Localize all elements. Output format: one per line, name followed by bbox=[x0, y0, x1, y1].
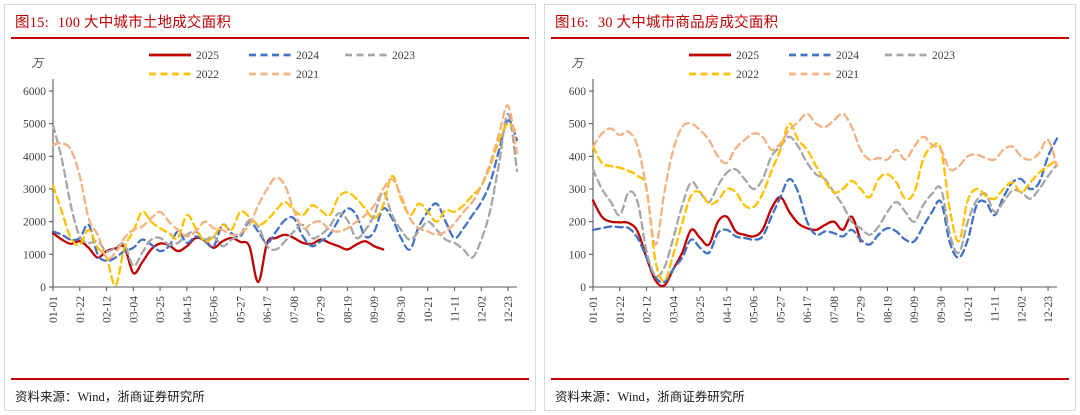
y-tick-label: 1000 bbox=[23, 249, 46, 261]
y-tick-label: 100 bbox=[569, 249, 587, 261]
legend-label-2023: 2023 bbox=[932, 50, 955, 62]
legend-label-2025: 2025 bbox=[196, 50, 219, 62]
x-tick-label: 04-15 bbox=[722, 296, 734, 323]
x-tick-label: 08-19 bbox=[343, 296, 355, 323]
y-tick-label: 3000 bbox=[23, 184, 46, 196]
x-tick-label: 07-08 bbox=[289, 296, 301, 323]
y-tick-label: 6000 bbox=[23, 86, 46, 98]
y-axis-unit: 万 bbox=[32, 58, 45, 70]
figure-title-16: 30 大中城市商品房成交面积 bbox=[598, 15, 778, 31]
x-tick-label: 09-09 bbox=[909, 296, 921, 323]
chart-area-16: 万010020030040050060001-0101-2202-1203-04… bbox=[545, 39, 1075, 378]
legend-label-2021: 2021 bbox=[296, 69, 319, 81]
legend-label-2021: 2021 bbox=[836, 69, 859, 81]
x-tick-label: 05-06 bbox=[749, 296, 761, 323]
legend-label-2023: 2023 bbox=[392, 50, 415, 62]
y-tick-label: 5000 bbox=[23, 119, 46, 131]
line-chart-16: 万010020030040050060001-0101-2202-1203-04… bbox=[545, 39, 1069, 349]
y-tick-label: 400 bbox=[569, 151, 587, 163]
x-tick-label: 10-21 bbox=[963, 296, 975, 323]
x-tick-label: 07-29 bbox=[316, 296, 328, 323]
x-tick-label: 07-29 bbox=[856, 296, 868, 323]
x-tick-label: 11-11 bbox=[990, 296, 1002, 322]
legend-label-2025: 2025 bbox=[736, 50, 759, 62]
panel-title-15: 图15:100 大中城市土地成交面积 bbox=[5, 5, 535, 37]
x-tick-label: 10-21 bbox=[423, 296, 435, 323]
x-tick-label: 01-22 bbox=[75, 296, 87, 323]
x-tick-label: 09-30 bbox=[396, 296, 408, 323]
x-tick-label: 09-30 bbox=[936, 296, 948, 323]
figure-panel-15: 图15:100 大中城市土地成交面积 万01000200030004000500… bbox=[4, 4, 536, 411]
x-tick-label: 02-12 bbox=[102, 296, 114, 323]
x-tick-label: 12-23 bbox=[503, 296, 515, 323]
figure-tag-15: 图15: bbox=[15, 15, 49, 31]
x-tick-label: 03-25 bbox=[695, 296, 707, 323]
x-tick-label: 03-25 bbox=[155, 296, 167, 323]
y-tick-label: 200 bbox=[569, 217, 587, 229]
legend-label-2024: 2024 bbox=[836, 50, 859, 62]
legend-label-2022: 2022 bbox=[196, 69, 219, 81]
series-line-2023 bbox=[53, 114, 517, 266]
x-tick-label: 06-17 bbox=[802, 296, 814, 323]
x-tick-label: 05-06 bbox=[209, 296, 221, 323]
legend-label-2024: 2024 bbox=[296, 50, 319, 62]
series-line-2023 bbox=[593, 137, 1057, 277]
x-tick-label: 05-27 bbox=[235, 296, 247, 323]
source-note-15: 资料来源：Wind，浙商证券研究所 bbox=[5, 380, 535, 410]
chart-area-15: 万010002000300040005000600001-0101-2202-1… bbox=[5, 39, 535, 378]
y-tick-label: 0 bbox=[40, 282, 46, 294]
line-chart-15: 万010002000300040005000600001-0101-2202-1… bbox=[5, 39, 529, 349]
y-axis-unit: 万 bbox=[572, 58, 585, 70]
y-tick-label: 300 bbox=[569, 184, 587, 196]
figure-title-15: 100 大中城市土地成交面积 bbox=[58, 15, 231, 31]
x-tick-label: 01-01 bbox=[588, 296, 600, 323]
figure-panel-16: 图16:30 大中城市商品房成交面积 万01002003004005006000… bbox=[544, 4, 1076, 411]
x-tick-label: 02-12 bbox=[642, 296, 654, 323]
x-tick-label: 03-04 bbox=[668, 296, 680, 323]
x-tick-label: 05-27 bbox=[775, 296, 787, 323]
x-tick-label: 09-09 bbox=[369, 296, 381, 323]
x-tick-label: 07-08 bbox=[829, 296, 841, 323]
x-tick-label: 01-22 bbox=[615, 296, 627, 323]
figures-page: 图15:100 大中城市土地成交面积 万01000200030004000500… bbox=[0, 0, 1080, 415]
y-tick-label: 4000 bbox=[23, 151, 46, 163]
y-tick-label: 2000 bbox=[23, 217, 46, 229]
figure-tag-16: 图16: bbox=[555, 15, 589, 31]
series-line-2025 bbox=[593, 197, 861, 286]
source-note-16: 资料来源：Wind，浙商证券研究所 bbox=[545, 380, 1075, 410]
x-tick-label: 11-11 bbox=[450, 296, 462, 322]
y-tick-label: 0 bbox=[580, 282, 586, 294]
x-tick-label: 01-01 bbox=[48, 296, 60, 323]
y-tick-label: 500 bbox=[569, 119, 587, 131]
x-tick-label: 06-17 bbox=[262, 296, 274, 323]
x-tick-label: 08-19 bbox=[883, 296, 895, 323]
x-tick-label: 12-02 bbox=[1016, 296, 1028, 323]
x-tick-label: 04-15 bbox=[182, 296, 194, 323]
x-tick-label: 12-23 bbox=[1043, 296, 1055, 323]
x-tick-label: 12-02 bbox=[476, 296, 488, 323]
legend-label-2022: 2022 bbox=[736, 69, 759, 81]
y-tick-label: 600 bbox=[569, 86, 587, 98]
panel-title-16: 图16:30 大中城市商品房成交面积 bbox=[545, 5, 1075, 37]
x-tick-label: 03-04 bbox=[128, 296, 140, 323]
series-line-2022 bbox=[53, 124, 517, 286]
